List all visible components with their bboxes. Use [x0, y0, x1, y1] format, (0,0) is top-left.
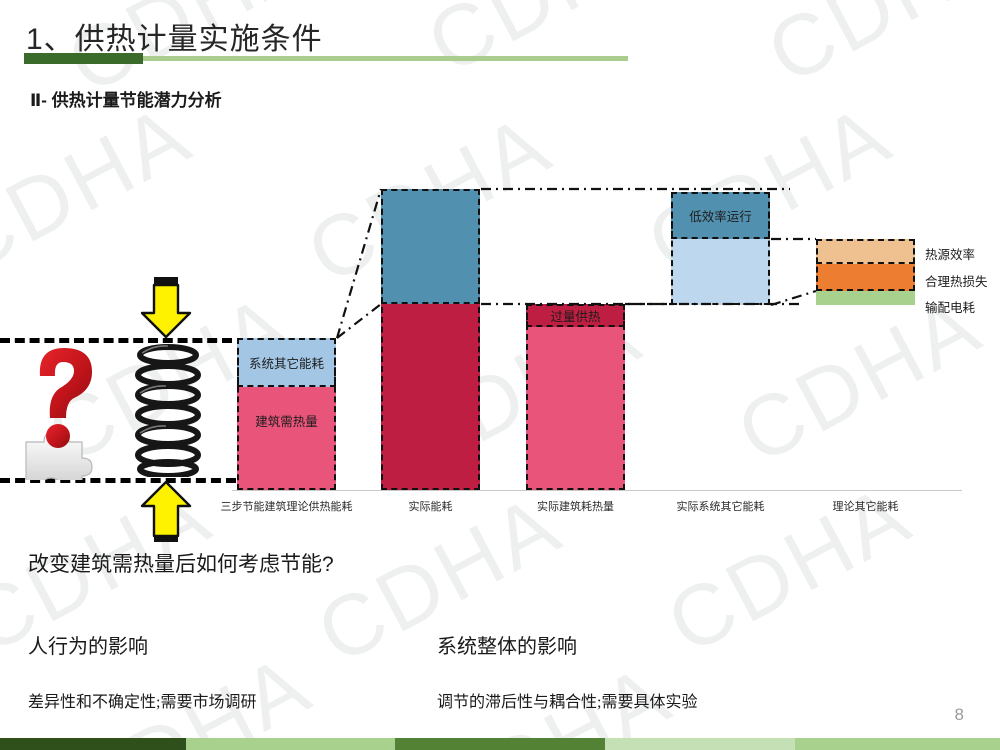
footer-segment — [605, 738, 795, 750]
legend-label-distribution-power: 输配电耗 — [925, 297, 975, 316]
category-label-1: 三步节能建筑理论供热能耗 — [216, 498, 357, 514]
bar-1-segment-system-other: 系统其它能耗 — [237, 338, 336, 387]
bar-3-segment-label: 过量供热 — [550, 306, 600, 325]
bar-5-segment-reasonable-heat-loss — [816, 264, 915, 291]
page-title: 1、供热计量实施条件 — [26, 14, 323, 58]
bar-2-segment-actual-building — [381, 304, 480, 490]
slide-canvas: CDHA CDHA CDHA CDHA CDHA CDHA CDHA CDHA … — [0, 0, 1000, 750]
legend-label-reasonable-heat-loss: 合理热损失 — [925, 271, 988, 290]
bar-2 — [381, 189, 480, 490]
section-subtitle: Ⅱ- 供热计量节能潜力分析 — [30, 86, 222, 111]
bar-5 — [816, 239, 915, 305]
category-label-2: 实际能耗 — [360, 498, 501, 514]
down-arrow-icon — [140, 277, 192, 339]
watermark-text: CDHA — [752, 0, 1000, 104]
body-text-right: 调节的滞后性与耦合性;需要具体实验 — [437, 688, 697, 712]
bar-3-segment-base — [526, 327, 625, 490]
bar-3-segment-over-supply: 过量供热 — [526, 304, 625, 327]
page-number: 8 — [955, 705, 964, 725]
bar-1-segment-building-demand: 建筑需热量 — [237, 387, 336, 490]
coil-spring-icon — [128, 341, 208, 477]
body-question: 改变建筑需热量后如何考虑节能? — [28, 548, 334, 578]
bar-4-segment-label: 低效率运行 — [689, 206, 752, 225]
category-label-5: 理论其它能耗 — [795, 498, 936, 514]
footer-segment — [186, 738, 395, 750]
subheading-human-behavior: 人行为的影响 — [28, 630, 148, 659]
watermark-text: CDHA — [412, 0, 688, 94]
bar-4-segment-theoretical-other — [671, 239, 770, 305]
footer-bar — [0, 738, 1000, 750]
chart-baseline-axis — [232, 490, 962, 491]
title-underline-dark — [24, 53, 143, 64]
bar-1-segment-label: 系统其它能耗 — [249, 353, 324, 372]
footer-segment — [0, 738, 186, 750]
bar-4: 低效率运行 — [671, 192, 770, 305]
footer-segment — [795, 738, 1000, 750]
up-arrow-icon — [140, 480, 192, 542]
bar-5-segment-distribution-power — [816, 291, 915, 305]
category-label-3: 实际建筑耗热量 — [505, 498, 646, 514]
bar-4-segment-low-efficiency: 低效率运行 — [671, 192, 770, 239]
footer-segment — [395, 738, 605, 750]
legend-label-source-efficiency: 热源效率 — [925, 244, 975, 263]
bar-2-segment-actual-system-other — [381, 189, 480, 304]
body-text-left: 差异性和不确定性;需要市场调研 — [28, 688, 256, 712]
question-mark-puzzle-icon — [10, 340, 120, 480]
subheading-system-overall: 系统整体的影响 — [437, 630, 577, 659]
bar-1-segment-label: 建筑需热量 — [255, 411, 318, 430]
bar-3: 过量供热 — [526, 304, 625, 490]
bar-1: 系统其它能耗 建筑需热量 — [237, 338, 336, 490]
category-label-4: 实际系统其它能耗 — [650, 498, 791, 514]
bar-5-segment-source-efficiency — [816, 239, 915, 264]
